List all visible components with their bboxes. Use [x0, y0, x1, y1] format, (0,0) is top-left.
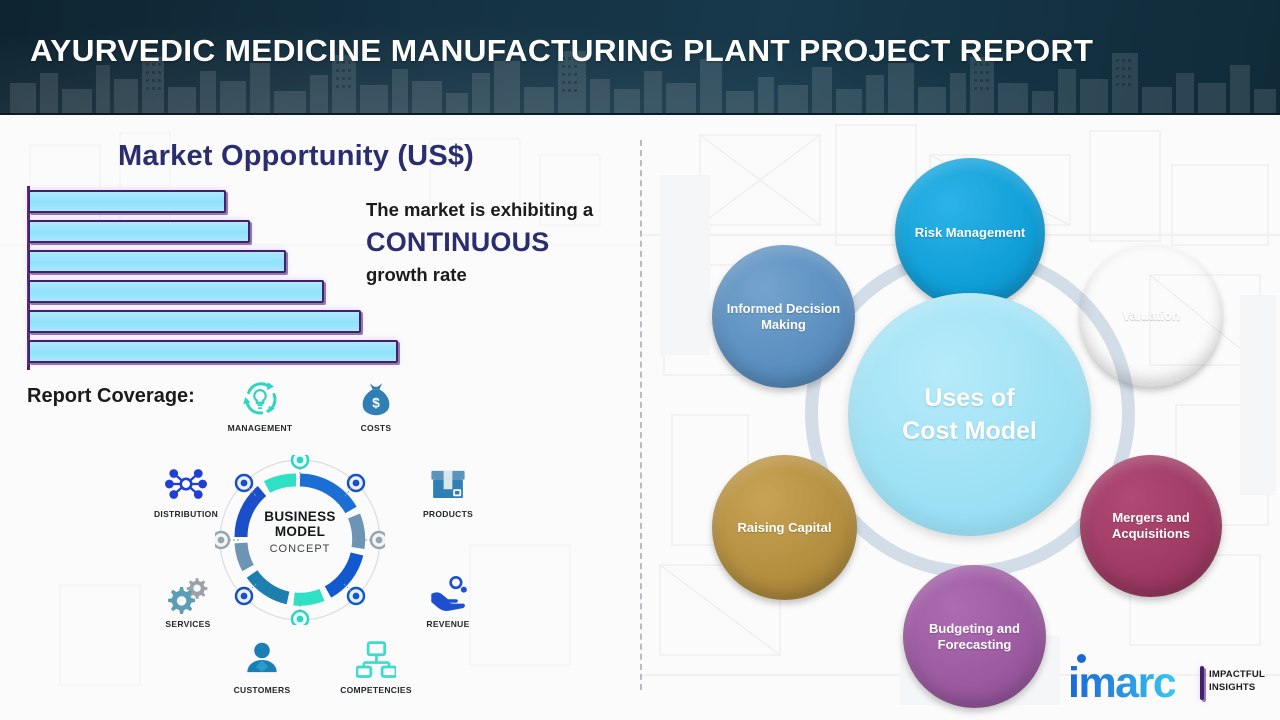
node-label: Informed Decision Making	[712, 301, 855, 333]
node-label: Risk Management	[909, 225, 1032, 241]
node-raising-capital: Raising Capital	[712, 455, 857, 600]
logo-divider-bar	[1200, 666, 1204, 700]
business-model-center-text: BUSINESS MODEL CONCEPT	[215, 509, 385, 555]
node-budgeting-forecasting: Budgeting and Forecasting	[903, 565, 1046, 708]
bm-label: MANAGEMENT	[214, 424, 306, 433]
gears-icon	[142, 571, 234, 617]
package-box-icon	[402, 461, 494, 507]
node-label: Budgeting and Forecasting	[903, 621, 1046, 653]
bm-label: COMPETENCIES	[330, 686, 422, 695]
logo-wordmark: imarc	[1068, 662, 1175, 705]
bar-row	[28, 340, 398, 363]
node-risk-management: Risk Management	[895, 158, 1045, 308]
bar-row	[28, 310, 361, 333]
network-monitor-icon	[330, 637, 422, 683]
business-model-ring: BUSINESS MODEL CONCEPT	[215, 455, 385, 625]
market-opportunity-title: Market Opportunity (US$)	[118, 140, 474, 173]
center-line-1: Uses of	[902, 382, 1037, 415]
bm-item-costs: $ COSTS	[330, 375, 422, 433]
logo-tagline-line-1: IMPACTFUL	[1209, 669, 1265, 682]
bm-item-products: PRODUCTS	[402, 461, 494, 519]
infographic-canvas: AYURVEDIC MEDICINE MANUFACTURING PLANT P…	[0, 0, 1280, 720]
bar-row	[28, 280, 324, 303]
node-label: Valuation	[1116, 308, 1186, 324]
uses-of-cost-model-diagram: Risk Management Valuation Mergers and Ac…	[690, 140, 1250, 700]
bm-center-line-1: BUSINESS	[215, 509, 385, 524]
bar-row	[28, 220, 250, 243]
center-line-2: Cost Model	[902, 415, 1037, 448]
bm-label: SERVICES	[142, 620, 234, 629]
svg-text:$: $	[372, 395, 380, 411]
network-nodes-icon	[140, 461, 232, 507]
bm-label: REVENUE	[402, 620, 494, 629]
recycle-lightbulb-icon	[214, 375, 306, 421]
bm-item-revenue: REVENUE	[402, 571, 494, 629]
bm-item-customers: CUSTOMERS	[216, 637, 308, 695]
growth-blurb: The market is exhibiting a CONTINUOUS gr…	[366, 198, 634, 286]
blurb-line-3: growth rate	[366, 263, 634, 286]
bm-item-distribution: DISTRIBUTION	[140, 461, 232, 519]
bm-center-line-3: CONCEPT	[215, 543, 385, 556]
logo-tagline-line-2: INSIGHTS	[1209, 682, 1265, 695]
node-mergers-acquisitions: Mergers and Acquisitions	[1080, 455, 1222, 597]
hand-coins-icon	[402, 571, 494, 617]
panel-divider	[640, 140, 642, 690]
bm-label: DISTRIBUTION	[140, 510, 232, 519]
blurb-line-2: CONTINUOUS	[366, 225, 634, 260]
bm-label: CUSTOMERS	[216, 686, 308, 695]
user-person-icon	[216, 637, 308, 683]
header-banner: AYURVEDIC MEDICINE MANUFACTURING PLANT P…	[0, 0, 1280, 115]
bm-center-line-2: MODEL	[215, 524, 385, 539]
page-title: AYURVEDIC MEDICINE MANUFACTURING PLANT P…	[30, 33, 1093, 69]
market-opportunity-bar-chart	[18, 186, 418, 372]
bm-item-services: SERVICES	[142, 571, 234, 629]
bm-label: COSTS	[330, 424, 422, 433]
blurb-line-1: The market is exhibiting a	[366, 198, 634, 221]
bar-row	[28, 250, 286, 273]
money-bag-icon: $	[330, 375, 422, 421]
node-center-uses-of-cost-model: Uses of Cost Model	[848, 293, 1091, 536]
node-valuation: Valuation	[1080, 245, 1222, 387]
node-label: Mergers and Acquisitions	[1080, 510, 1222, 542]
logo-tagline: IMPACTFUL INSIGHTS	[1209, 669, 1265, 695]
node-label: Raising Capital	[732, 520, 838, 536]
bm-item-competencies: COMPETENCIES	[330, 637, 422, 695]
business-model-diagram: BUSINESS MODEL CONCEPT	[150, 375, 480, 705]
bm-label: PRODUCTS	[402, 510, 494, 519]
bar-row	[28, 190, 226, 213]
node-informed-decision-making: Informed Decision Making	[712, 245, 855, 388]
bm-item-management: MANAGEMENT	[214, 375, 306, 433]
imarc-logo: imarc IMPACTFUL INSIGHTS	[1068, 660, 1268, 710]
